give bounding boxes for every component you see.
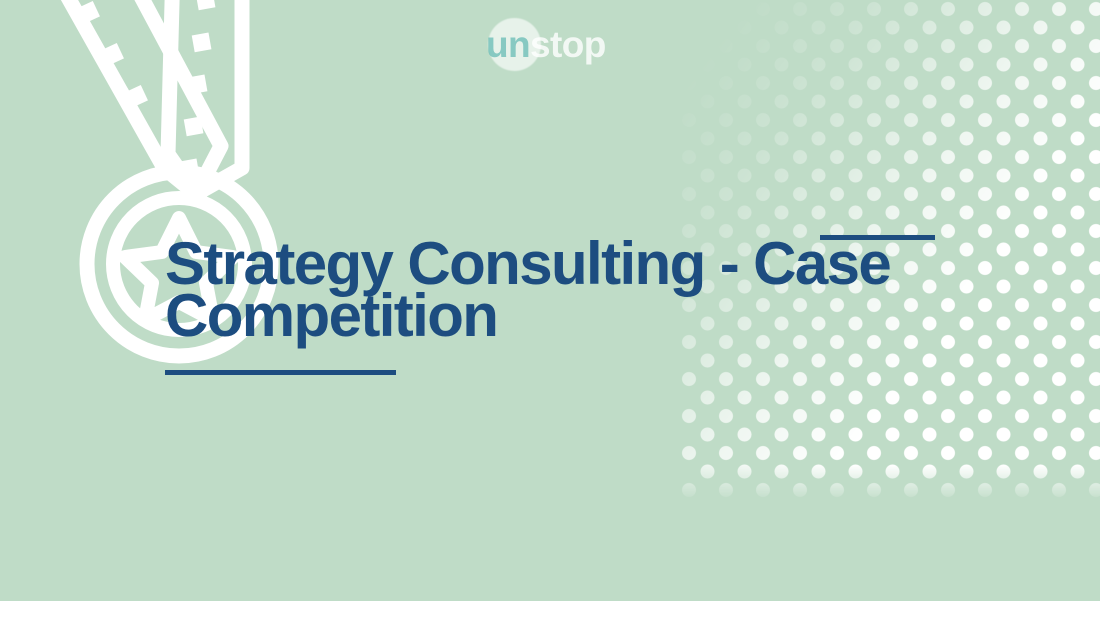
unstop-logo[interactable]: unstop bbox=[486, 14, 626, 74]
page-title: Strategy Consulting - Case Competition bbox=[165, 238, 925, 342]
unstop-wordmark: unstop bbox=[486, 14, 606, 74]
banner-canvas: unstop Strategy Consulting - Case Compet… bbox=[0, 0, 1100, 630]
green-banner: unstop Strategy Consulting - Case Compet… bbox=[0, 0, 1100, 601]
title-underline-rule bbox=[165, 370, 396, 375]
logo-text-stop: stop bbox=[530, 26, 606, 63]
logo-text-un: un bbox=[486, 26, 530, 63]
